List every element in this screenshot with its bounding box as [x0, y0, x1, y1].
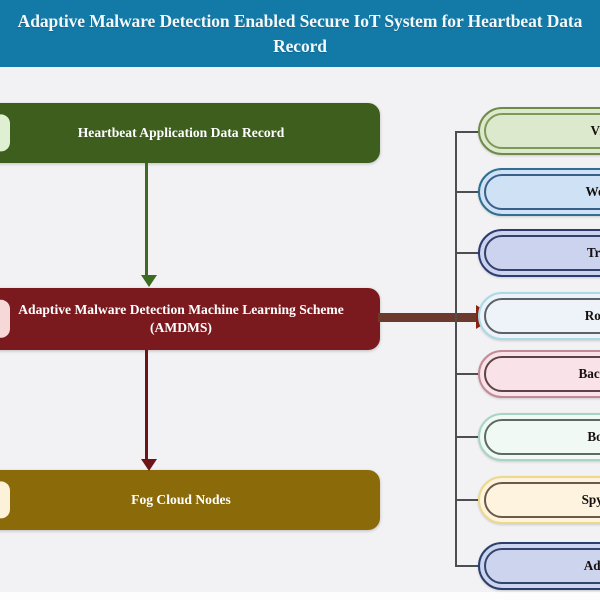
arrowhead-down-icon [141, 275, 157, 287]
node-malware-botnet[interactable]: Botnet [478, 413, 600, 461]
node-malware-spyware[interactable]: Spyware [478, 476, 600, 524]
label-worms: Worms [480, 184, 600, 200]
label-adware: Adware [480, 558, 600, 574]
label-botnet: Botnet [480, 429, 600, 445]
arrow-amdms-to-malware-list [378, 313, 478, 322]
page-title: Adaptive Malware Detection Enabled Secur… [14, 9, 586, 57]
arrow-heartbeat-to-amdms [145, 163, 148, 276]
branch-to-worms [455, 191, 480, 193]
arrow-amdms-to-fog [145, 350, 148, 460]
node-adaptive-malware-detection-scheme[interactable]: Adaptive Malware Detection Machine Learn… [0, 288, 380, 350]
diagram-canvas: Adaptive Malware Detection Enabled Secur… [0, 0, 600, 600]
node-malware-worms[interactable]: Worms [478, 168, 600, 216]
node-accent-amdms [0, 300, 10, 338]
node-malware-virus[interactable]: Virus [478, 107, 600, 155]
node-label-fog: Fog Cloud Nodes [131, 491, 231, 509]
node-malware-backdoor[interactable]: Backdoor [478, 350, 600, 398]
node-malware-adware[interactable]: Adware [478, 542, 600, 590]
node-accent-heartbeat [0, 114, 10, 151]
bottom-strip [0, 592, 600, 600]
branch-to-spyware [455, 499, 480, 501]
branch-to-trojan [455, 252, 480, 254]
label-spyware: Spyware [480, 492, 600, 508]
branch-to-botnet [455, 436, 480, 438]
diagram-header: Adaptive Malware Detection Enabled Secur… [0, 0, 600, 67]
node-malware-trojan[interactable]: Trojan [478, 229, 600, 277]
node-accent-fog [0, 481, 10, 518]
node-label-amdms: Adaptive Malware Detection Machine Learn… [16, 301, 346, 337]
node-label-heartbeat: Heartbeat Application Data Record [78, 124, 285, 142]
arrowhead-down-icon [141, 459, 157, 471]
branch-to-adware [455, 565, 480, 567]
label-trojan: Trojan [480, 245, 600, 261]
label-rootkit: Rootkit [480, 308, 600, 324]
branch-to-virus [455, 131, 480, 133]
label-backdoor: Backdoor [480, 366, 600, 382]
node-fog-cloud-nodes[interactable]: Fog Cloud Nodes [0, 470, 380, 530]
node-heartbeat-application-data-record[interactable]: Heartbeat Application Data Record [0, 103, 380, 163]
node-malware-rootkit[interactable]: Rootkit [478, 292, 600, 340]
branch-to-backdoor [455, 373, 480, 375]
label-virus: Virus [480, 123, 600, 139]
